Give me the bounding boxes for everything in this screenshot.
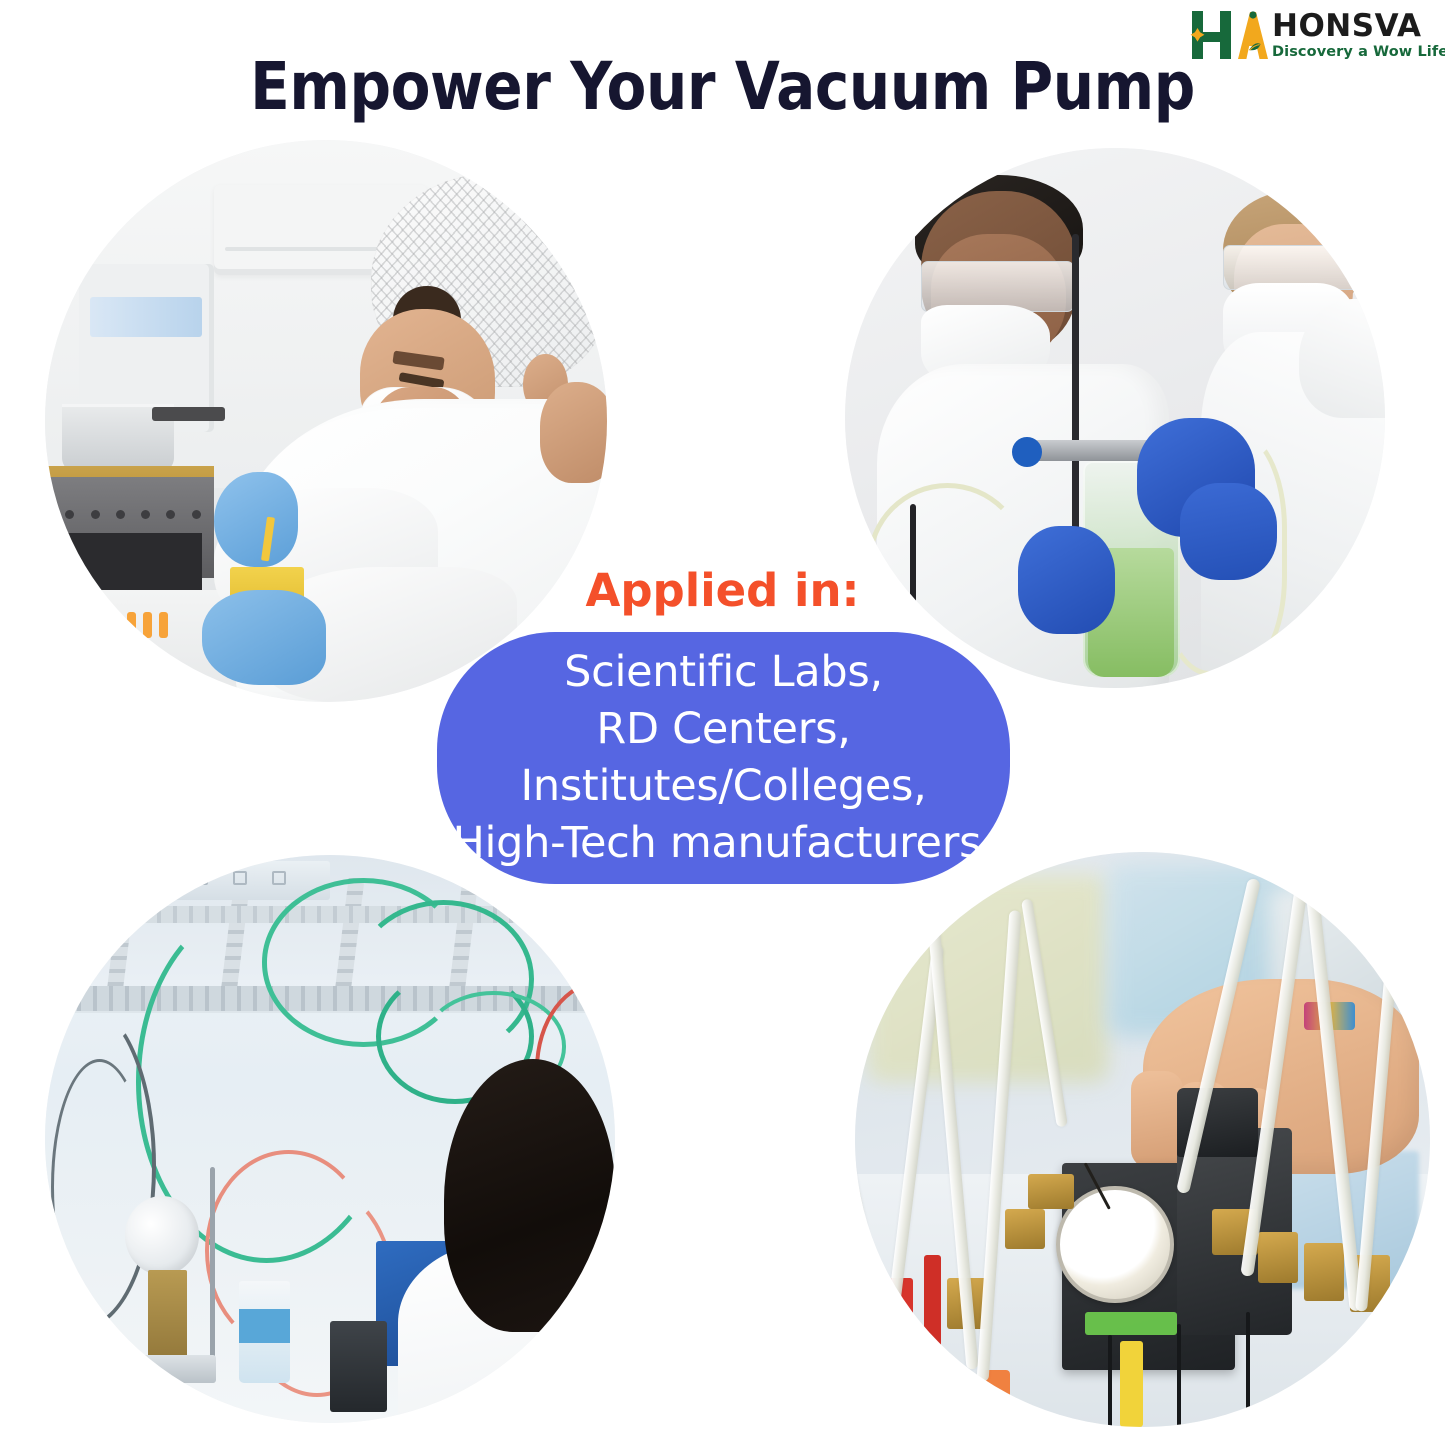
page-title: Empower Your Vacuum Pump — [87, 52, 1359, 122]
applied-in-list: Scientific Labs, RD Centers, Institutes/… — [442, 644, 1004, 872]
applied-item: Institutes/Colleges, — [452, 758, 994, 815]
applied-in-label: Applied in: — [0, 565, 1445, 617]
photo-pneumatic-manifold-gauge — [855, 852, 1430, 1427]
applied-item: RD Centers, — [452, 701, 994, 758]
applied-item: High-Tech manufacturers. — [452, 815, 994, 872]
applied-in-callout: Scientific Labs, RD Centers, Institutes/… — [437, 632, 1010, 884]
brand-name: HONSVA — [1272, 10, 1440, 42]
photo-lab-green-tubing — [45, 855, 615, 1423]
photo-lab-technician-pipetting — [45, 140, 607, 702]
infographic-canvas: HONSVA Discovery a Wow Life Empower Your… — [0, 0, 1445, 1445]
applied-item: Scientific Labs, — [452, 644, 994, 701]
